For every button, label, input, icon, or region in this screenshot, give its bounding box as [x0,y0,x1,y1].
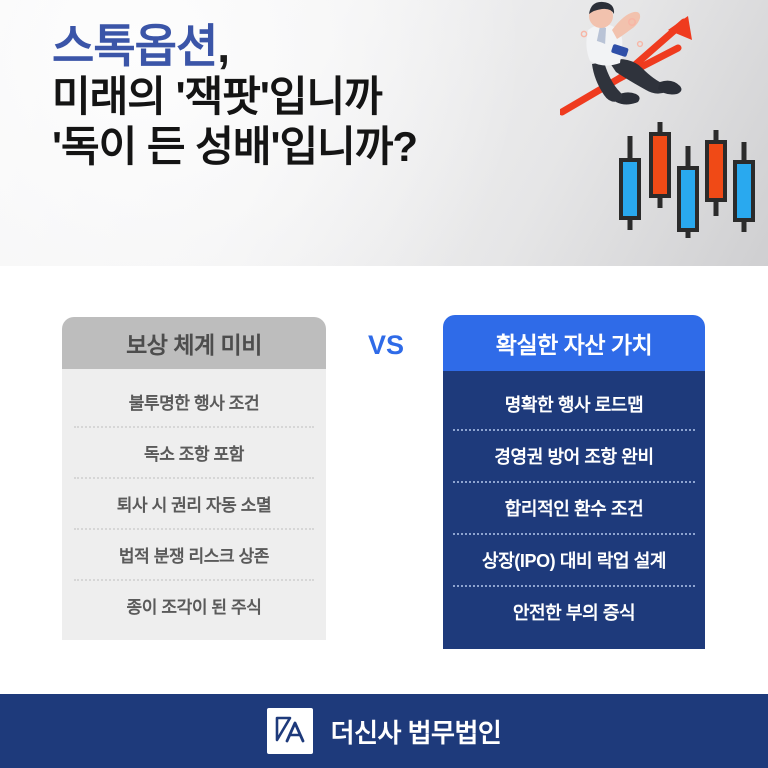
card-body-positive: 명확한 행사 로드맵 경영권 방어 조항 완비 합리적인 환수 조건 상장(IP… [443,371,705,649]
title-line-2: 미래의 '잭팟'입니까 [52,75,572,120]
candlestick-chart [608,112,760,246]
title-line-1: 스톡옵션, [52,22,572,71]
footer-bar: 더신사 법무법인 [0,694,768,768]
card-body-negative: 불투명한 행사 조건 독소 조항 포함 퇴사 시 권리 자동 소멸 법적 분쟁 … [62,369,326,640]
list-item: 종이 조각이 된 주식 [62,581,326,630]
list-item: 합리적인 환수 조건 [443,483,705,533]
list-item: 안전한 부의 증식 [443,587,705,637]
list-item: 퇴사 시 권리 자동 소멸 [62,479,326,528]
card-heading-negative: 보상 체계 미비 [62,317,326,369]
brand-name: 더신사 법무법인 [331,713,502,750]
dsa-monogram-logo-icon [267,708,313,754]
comparison-card-positive: 확실한 자산 가치 명확한 행사 로드맵 경영권 방어 조항 완비 합리적인 환… [443,315,705,649]
list-item: 독소 조항 포함 [62,428,326,477]
list-item: 경영권 방어 조항 완비 [443,431,705,481]
vs-badge: VS [355,330,417,361]
infographic-page: 스톡옵션, 미래의 '잭팟'입니까 '독이 든 성배'입니까? [0,0,768,768]
list-item: 불투명한 행사 조건 [62,377,326,426]
businessman-on-rising-arrow-icon [560,0,768,120]
list-item: 명확한 행사 로드맵 [443,379,705,429]
list-item: 법적 분쟁 리스크 상존 [62,530,326,579]
title-keyword: 스톡옵션 [52,20,217,72]
list-item: 상장(IPO) 대비 락업 설계 [443,535,705,585]
title-comma: , [217,20,229,72]
comparison-card-negative: 보상 체계 미비 불투명한 행사 조건 독소 조항 포함 퇴사 시 권리 자동 … [62,317,326,640]
card-heading-positive: 확실한 자산 가치 [443,315,705,371]
title-line-3: '독이 든 성배'입니까? [52,125,572,170]
page-title: 스톡옵션, 미래의 '잭팟'입니까 '독이 든 성배'입니까? [52,22,572,170]
header-section: 스톡옵션, 미래의 '잭팟'입니까 '독이 든 성배'입니까? [0,0,768,266]
